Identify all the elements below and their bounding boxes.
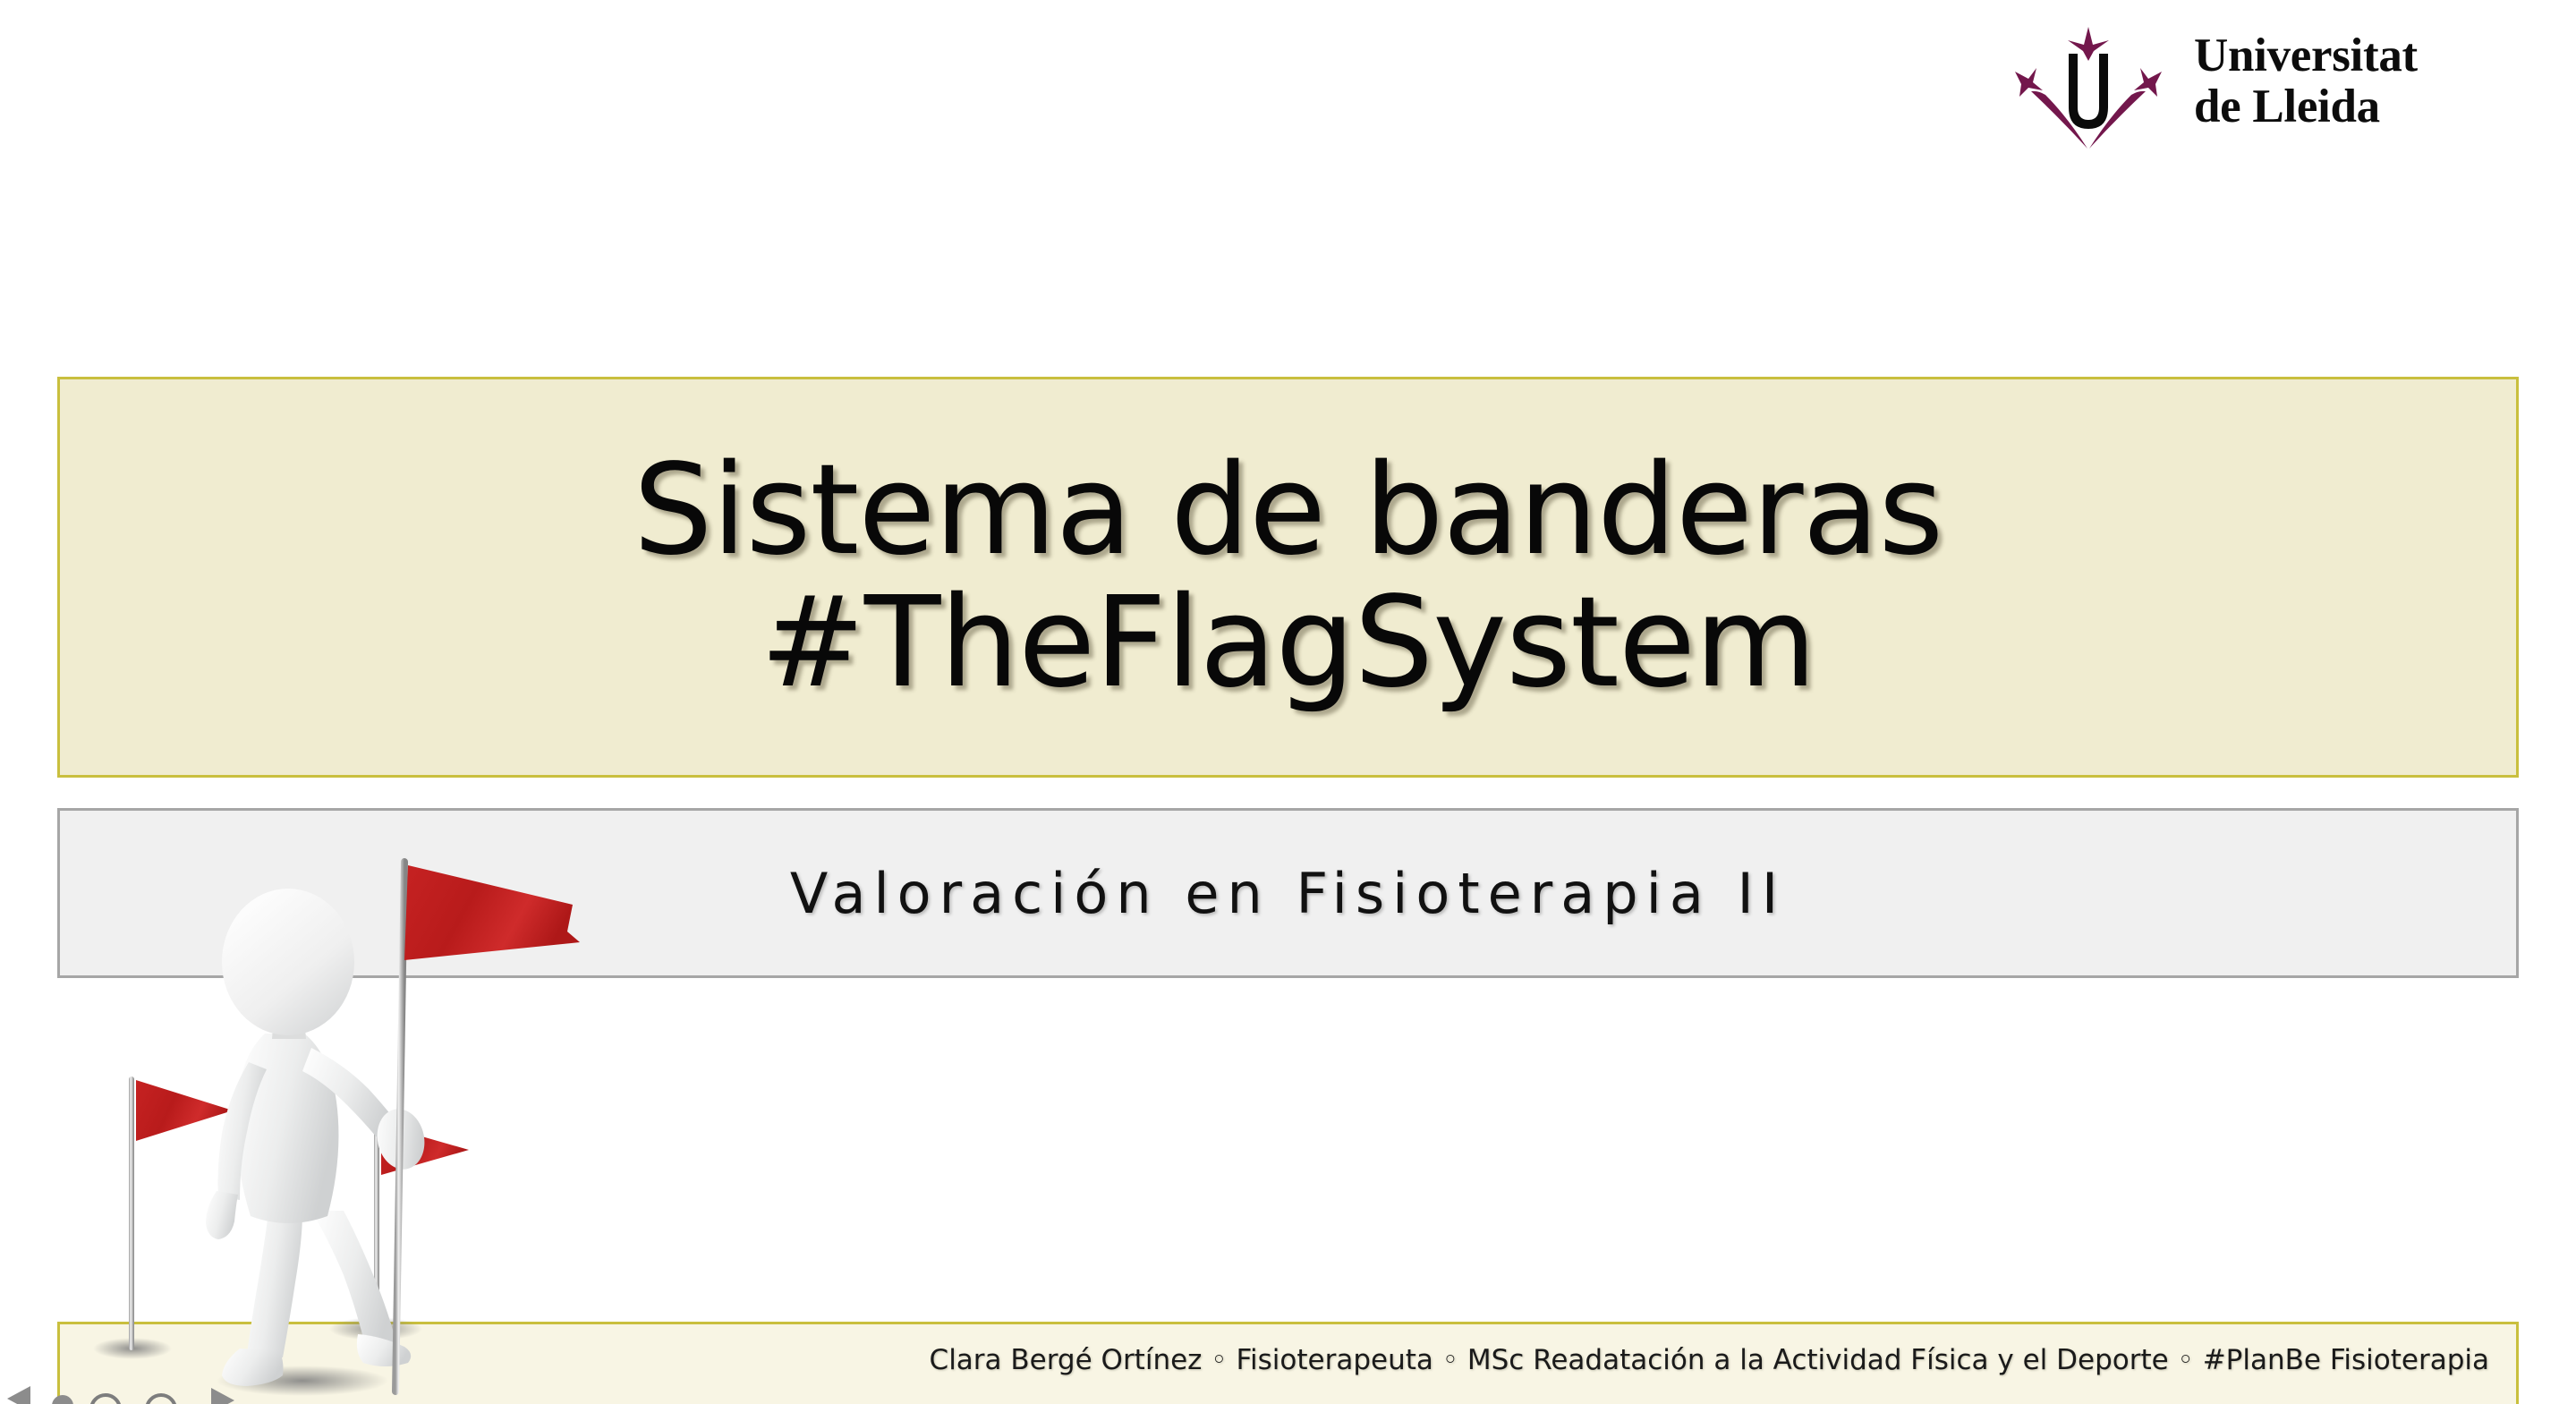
author-credit: Clara Bergé Ortínez ◦ Fisioterapeuta ◦ M… [930, 1344, 2489, 1376]
page-title: Sistema de banderas #TheFlagSystem [633, 445, 1943, 711]
flag-left [129, 1076, 233, 1350]
menu-icon [91, 1395, 120, 1404]
university-wordmark: Universitat de Lleida [2194, 30, 2525, 132]
universitat-de-lleida-mark-icon [1999, 25, 2178, 150]
wordmark-line-1: Universitat [2194, 30, 2525, 81]
wordmark-line-2: de Lleida [2194, 81, 2525, 132]
slide-subtitle-box: Valoración en Fisioterapia II [57, 808, 2519, 978]
zoom-icon [147, 1395, 175, 1404]
prev-icon [7, 1386, 30, 1404]
university-logo: Universitat de Lleida [1999, 25, 2527, 150]
flag-right [374, 1121, 469, 1331]
title-line-2: #TheFlagSystem [633, 577, 1943, 710]
page-subtitle: Valoración en Fisioterapia II [790, 861, 1786, 926]
presentation-player-controls[interactable] [0, 1381, 295, 1404]
title-line-1: Sistema de banderas [633, 445, 1943, 577]
next-icon [211, 1388, 234, 1404]
slide-title-box: Sistema de banderas #TheFlagSystem [57, 377, 2519, 778]
slide-footer-box: Clara Bergé Ortínez ◦ Fisioterapeuta ◦ M… [57, 1322, 2519, 1404]
